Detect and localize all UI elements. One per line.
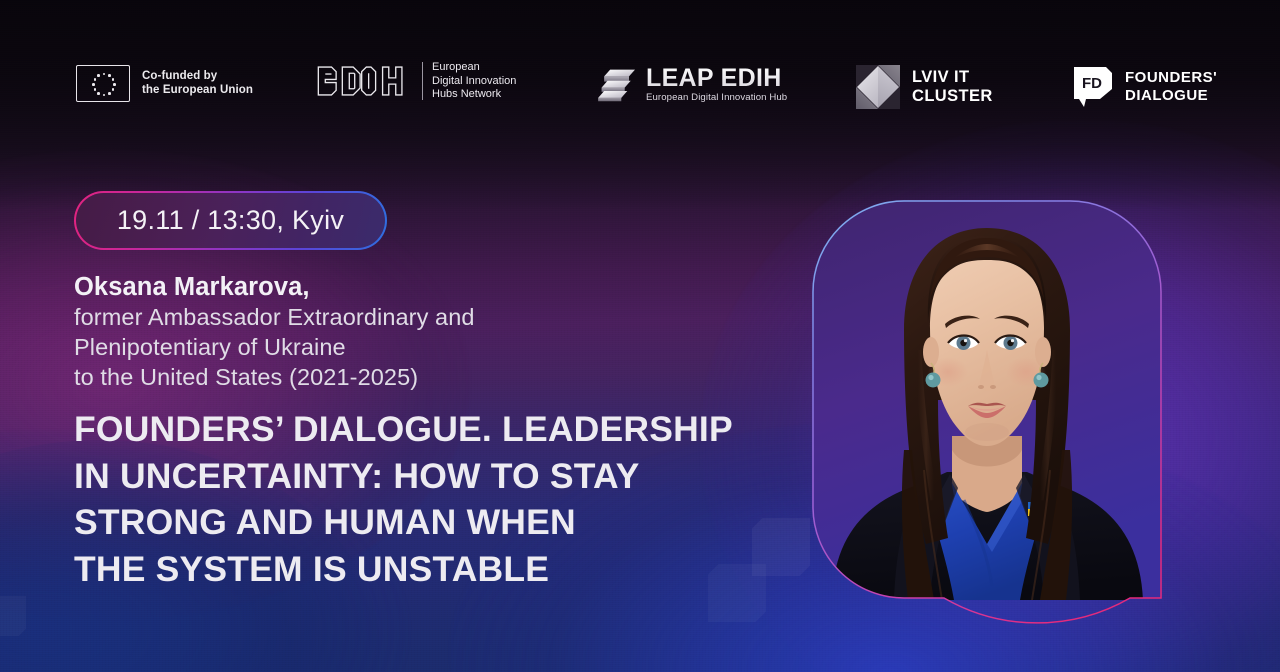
- headline-line4: THE SYSTEM IS UNSTABLE: [74, 546, 814, 593]
- eu-star-icon: [94, 88, 97, 91]
- headline-line3: STRONG AND HUMAN WHEN: [74, 499, 814, 546]
- speaker-portrait-image: [812, 200, 1162, 600]
- logo-eu-line2: the European Union: [142, 84, 253, 98]
- eu-star-icon: [97, 92, 100, 95]
- speaker-role-line3: to the United States (2021-2025): [74, 362, 694, 392]
- logo-fd-line2: DIALOGUE: [1125, 87, 1217, 105]
- logo-leap-subtitle: European Digital Innovation Hub: [646, 92, 787, 104]
- logo-eu-line1: Co-funded by: [142, 70, 253, 84]
- event-date-text: 19.11 / 13:30, Kyiv: [117, 205, 344, 236]
- logo-eu-text: Co-funded by the European Union: [142, 70, 253, 97]
- eu-star-icon: [108, 74, 111, 77]
- logo-edih-line3: Hubs Network: [432, 88, 516, 102]
- partner-logo-bar: Co-funded by the European Union: [0, 55, 1280, 125]
- headline-line2: IN UNCERTAINTY: HOW TO STAY: [74, 453, 814, 500]
- logo-leap-title: LEAP EDIH: [646, 65, 787, 91]
- eu-star-icon: [92, 83, 95, 86]
- logo-lviv-text: LVIV IT CLUSTER: [912, 68, 993, 106]
- edih-wordmark-icon: [316, 63, 412, 99]
- eu-star-icon: [94, 78, 97, 81]
- logo-lviv-it-cluster: LVIV IT CLUSTER: [856, 65, 993, 109]
- logo-leap-edih: LEAP EDIH European Digital Innovation Hu…: [596, 65, 787, 104]
- eu-star-icon: [112, 88, 115, 91]
- speaker-name: Oksana Markarova,: [74, 272, 694, 302]
- logo-fd-line1: FOUNDERS': [1125, 69, 1217, 87]
- logo-edih-divider: [422, 62, 423, 100]
- eu-star-icon: [108, 92, 111, 95]
- speaker-portrait: [812, 200, 1162, 600]
- eu-star-icon: [103, 73, 106, 76]
- eu-star-icon: [103, 94, 106, 97]
- logo-edih-line2: Digital Innovation: [432, 75, 516, 89]
- eu-flag-icon: [76, 65, 130, 102]
- speaker-role-line2: Plenipotentiary of Ukraine: [74, 332, 694, 362]
- logo-eu: Co-funded by the European Union: [76, 65, 253, 102]
- eu-star-icon: [113, 83, 116, 86]
- logo-fd-text: FOUNDERS' DIALOGUE: [1125, 69, 1217, 105]
- speaker-block: Oksana Markarova, former Ambassador Extr…: [74, 272, 694, 392]
- event-date-badge[interactable]: 19.11 / 13:30, Kyiv: [74, 191, 387, 250]
- event-date-badge-inner: 19.11 / 13:30, Kyiv: [76, 193, 386, 249]
- logo-lviv-line1: LVIV IT: [912, 68, 993, 87]
- logo-edih-text: European Digital Innovation Hubs Network: [432, 61, 516, 102]
- logo-lviv-line2: CLUSTER: [912, 87, 993, 106]
- speaker-role: former Ambassador Extraordinary and Plen…: [74, 302, 694, 392]
- lviv-diamond-icon: [856, 65, 900, 109]
- eu-star-icon: [97, 74, 100, 77]
- leap-steps-icon: [596, 67, 638, 103]
- promo-banner: Co-funded by the European Union: [0, 0, 1280, 672]
- headline-line1: FOUNDERS’ DIALOGUE. LEADERSHIP: [74, 406, 814, 453]
- speech-bubble-fd-icon: FD: [1068, 65, 1114, 109]
- logo-edih-line1: European: [432, 61, 516, 75]
- logo-founders-dialogue: FD FOUNDERS' DIALOGUE: [1068, 65, 1217, 109]
- logo-edih: European Digital Innovation Hubs Network: [316, 61, 516, 102]
- eu-star-icon: [112, 78, 115, 81]
- speaker-role-line1: former Ambassador Extraordinary and: [74, 302, 694, 332]
- event-headline: FOUNDERS’ DIALOGUE. LEADERSHIP IN UNCERT…: [74, 406, 814, 592]
- fd-monogram: FD: [1082, 75, 1102, 92]
